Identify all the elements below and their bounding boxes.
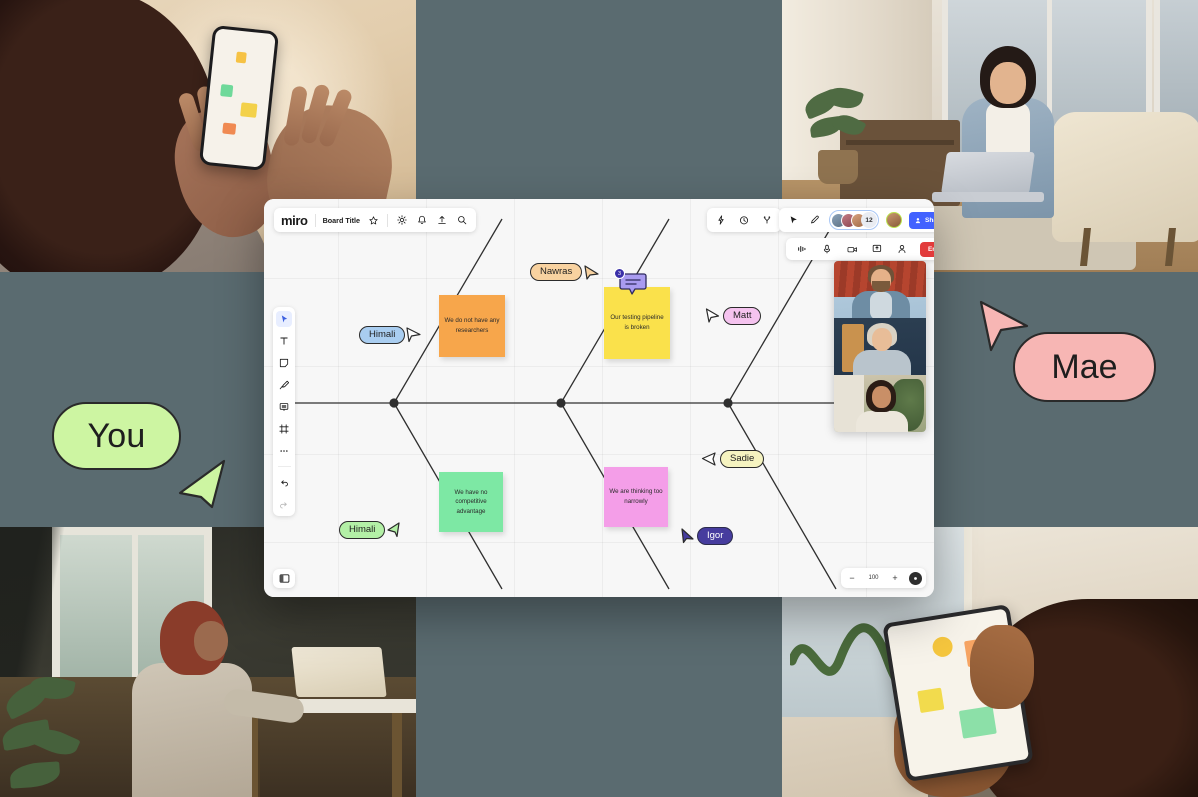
collaborator-cursor-sadie: Sadie bbox=[701, 450, 764, 468]
miro-logo[interactable]: miro bbox=[281, 214, 308, 227]
pen-highlight-icon[interactable] bbox=[808, 213, 822, 227]
sticky-note[interactable]: We have no competitive advantage bbox=[439, 472, 503, 532]
sticky-note[interactable]: Our testing pipeline is broken bbox=[604, 287, 670, 359]
cursor-share-icon[interactable] bbox=[787, 213, 801, 227]
sticky-note[interactable]: We are thinking too narrowly bbox=[604, 467, 668, 527]
cursor-arrow-icon bbox=[701, 450, 718, 467]
cursor-arrow-mae bbox=[977, 300, 1033, 352]
collaborator-label: Himali bbox=[359, 326, 405, 344]
divider bbox=[387, 214, 388, 227]
comment-bubble[interactable]: 3 bbox=[619, 272, 647, 296]
board-tools-toolbar bbox=[707, 208, 781, 232]
shapes-tool[interactable] bbox=[276, 399, 292, 415]
pen-tool[interactable] bbox=[276, 377, 292, 393]
video-tile[interactable] bbox=[834, 261, 926, 318]
cursor-tool[interactable] bbox=[276, 311, 292, 327]
share-label: Share bbox=[925, 217, 934, 224]
cursor-arrow-icon bbox=[582, 263, 600, 281]
miro-app-window: We do not have any researchers Our testi… bbox=[264, 199, 934, 597]
collaborator-cursor-nawras: Nawras bbox=[530, 263, 600, 281]
collaborator-label: Matt bbox=[723, 307, 761, 325]
cursor-arrow-you bbox=[174, 457, 230, 509]
sticky-note-tool[interactable] bbox=[276, 355, 292, 371]
timer-icon[interactable] bbox=[737, 213, 751, 227]
audio-levels-icon[interactable] bbox=[795, 242, 809, 256]
cursor-arrow-icon bbox=[704, 307, 721, 324]
locate-icon bbox=[912, 575, 919, 582]
cursor-label-mae: Mae bbox=[1013, 332, 1156, 402]
cursor-label-you: You bbox=[52, 402, 181, 470]
sidebar-panel-icon bbox=[279, 573, 290, 584]
collaborator-cursor-himali-1: Himali bbox=[359, 326, 422, 344]
sticky-note[interactable]: We do not have any researchers bbox=[439, 295, 505, 357]
upload-icon[interactable] bbox=[435, 213, 449, 227]
zoom-in-button[interactable]: + bbox=[888, 571, 902, 585]
end-call-button[interactable]: End bbox=[920, 242, 934, 257]
collaborator-label: Nawras bbox=[530, 263, 582, 281]
collaboration-toolbar: 12 Share bbox=[779, 208, 934, 232]
zoom-controls: − 100 + bbox=[841, 568, 926, 588]
left-tool-rail bbox=[273, 307, 295, 516]
cursor-arrow-icon bbox=[385, 521, 402, 538]
video-tile[interactable] bbox=[834, 318, 926, 375]
board-title[interactable]: Board Title bbox=[323, 216, 360, 225]
participants-icon[interactable] bbox=[895, 242, 909, 256]
collaborator-cursor-matt: Matt bbox=[704, 307, 761, 325]
comment-count-badge: 3 bbox=[614, 268, 625, 279]
text-tool[interactable] bbox=[276, 333, 292, 349]
video-tile[interactable] bbox=[834, 375, 926, 432]
sparkle-icon[interactable] bbox=[714, 213, 728, 227]
fit-to-screen-button[interactable] bbox=[909, 572, 922, 585]
frame-tool[interactable] bbox=[276, 421, 292, 437]
panel-toggle-button[interactable] bbox=[273, 569, 295, 588]
star-icon[interactable] bbox=[366, 213, 380, 227]
person-add-icon bbox=[915, 217, 922, 224]
zoom-level-value[interactable]: 100 bbox=[866, 575, 881, 581]
camera-icon[interactable] bbox=[845, 242, 859, 256]
search-icon[interactable] bbox=[455, 213, 469, 227]
collaborator-label: Sadie bbox=[720, 450, 764, 468]
cursor-arrow-icon bbox=[679, 527, 696, 544]
avatar-group[interactable]: 12 bbox=[829, 210, 879, 230]
board-header-toolbar: miro Board Title bbox=[274, 208, 476, 232]
collaborator-label: Igor bbox=[697, 527, 733, 545]
undo-tool[interactable] bbox=[276, 474, 292, 490]
gear-icon[interactable] bbox=[395, 213, 409, 227]
share-button[interactable]: Share bbox=[909, 212, 934, 229]
bell-icon[interactable] bbox=[415, 213, 429, 227]
microphone-icon[interactable] bbox=[820, 242, 834, 256]
collaborator-cursor-himali-2: Himali bbox=[339, 521, 402, 539]
collaborator-cursor-igor: Igor bbox=[679, 527, 733, 545]
screen-share-icon[interactable] bbox=[870, 242, 884, 256]
avatar-overflow-count: 12 bbox=[861, 212, 877, 228]
video-participant-panel bbox=[834, 261, 926, 432]
collaborator-label: Himali bbox=[339, 521, 385, 539]
divider bbox=[278, 466, 291, 467]
cursor-arrow-icon bbox=[405, 326, 422, 343]
video-call-toolbar: End bbox=[786, 238, 934, 260]
current-user-avatar[interactable] bbox=[886, 212, 902, 228]
page-root: You Mae We do not have any research bbox=[0, 0, 1198, 797]
voting-icon[interactable] bbox=[760, 213, 774, 227]
zoom-out-button[interactable]: − bbox=[845, 571, 859, 585]
divider bbox=[315, 214, 316, 227]
more-tools[interactable] bbox=[276, 443, 292, 459]
redo-tool[interactable] bbox=[276, 496, 292, 512]
